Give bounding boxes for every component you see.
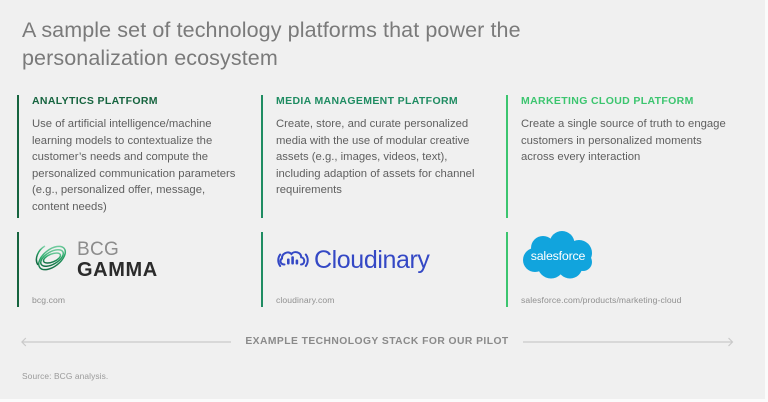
platform-column-marketing-cloud: MARKETING CLOUD PLATFORM Create a single… [506, 95, 736, 166]
cloud-icon: salesforce [521, 231, 595, 290]
column-accent-rule-logo [17, 232, 19, 307]
slide-canvas: A sample set of technology platforms tha… [0, 0, 768, 402]
arrow-left-icon [18, 335, 231, 347]
logo-wordmark-salesforce: salesforce [531, 249, 586, 263]
page-title: A sample set of technology platforms tha… [22, 16, 582, 72]
arrow-caption: EXAMPLE TECHNOLOGY STACK FOR OUR PILOT [231, 336, 522, 347]
logo-wordmark-cloudinary: Cloudinary [314, 246, 430, 275]
column-description: Create a single source of truth to engag… [521, 116, 726, 166]
column-description: Create, store, and curate personalized m… [276, 116, 481, 199]
platform-logo: Cloudinary [276, 232, 430, 288]
technology-stack-arrow: EXAMPLE TECHNOLOGY STACK FOR OUR PILOT [18, 331, 736, 351]
source-note: Source: BCG analysis. [22, 371, 108, 381]
logo-text-gamma: GAMMA [77, 260, 158, 280]
platform-url[interactable]: bcg.com [32, 295, 65, 305]
platform-column-media-management: MEDIA MANAGEMENT PLATFORM Create, store,… [261, 95, 491, 199]
column-accent-rule-logo [506, 232, 508, 307]
column-description: Use of artificial intelligence/machine l… [32, 116, 237, 216]
column-accent-rule-text [17, 95, 19, 218]
platform-logo: salesforce [521, 232, 595, 288]
column-heading: MARKETING CLOUD PLATFORM [521, 95, 736, 107]
column-accent-rule-text [506, 95, 508, 218]
platform-logo: BCG GAMMA [32, 232, 158, 288]
column-accent-rule-logo [261, 232, 263, 307]
platform-url[interactable]: salesforce.com/products/marketing-cloud [521, 295, 682, 305]
column-heading: ANALYTICS PLATFORM [32, 95, 247, 107]
platform-column-analytics: ANALYTICS PLATFORM Use of artificial int… [17, 95, 247, 216]
column-accent-rule-text [261, 95, 263, 218]
arrow-right-icon [523, 335, 736, 347]
swirl-ellipse-icon [32, 239, 72, 282]
column-heading: MEDIA MANAGEMENT PLATFORM [276, 95, 491, 107]
platform-url[interactable]: cloudinary.com [276, 295, 335, 305]
cloud-bars-icon [276, 245, 310, 276]
logo-text-bcg: BCG [77, 240, 158, 259]
